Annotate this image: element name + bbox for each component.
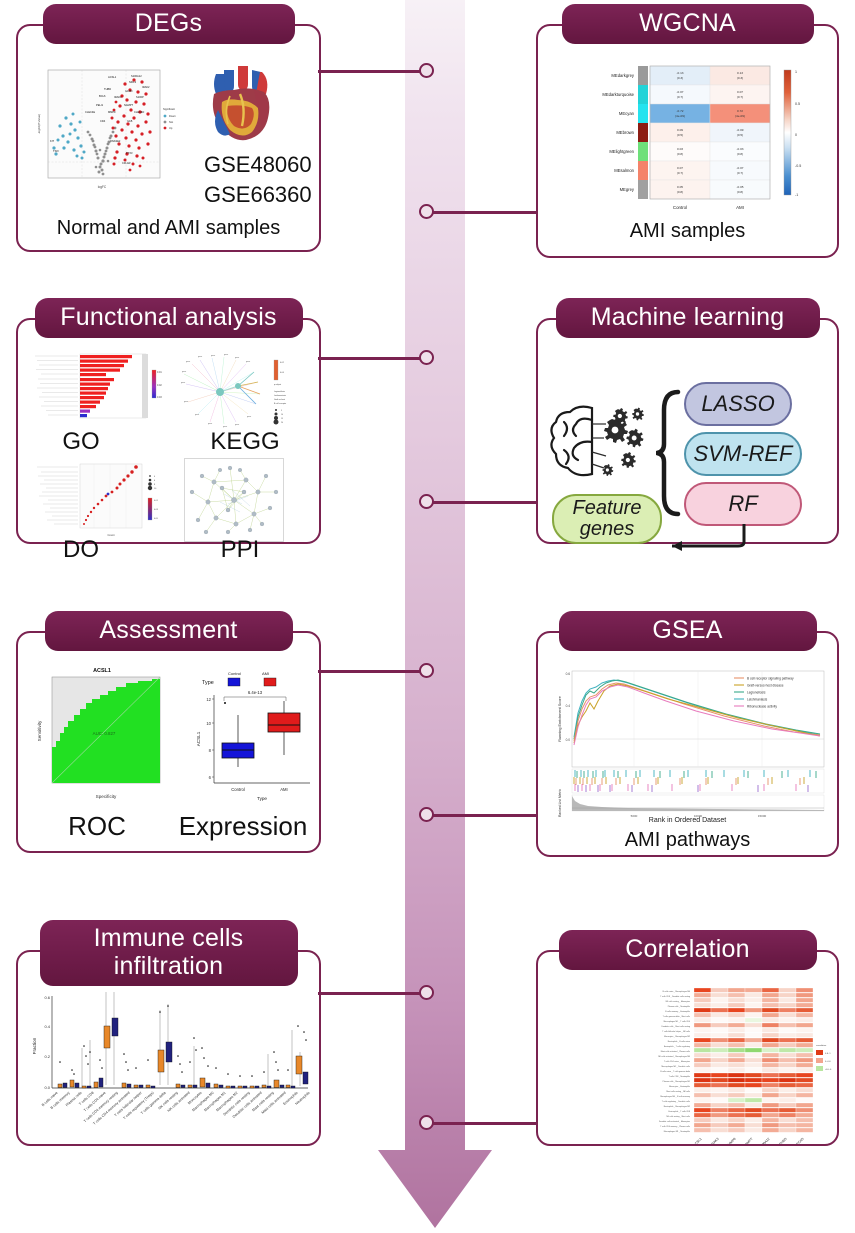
svg-text:T cells CD8 _ Neutrophils: T cells CD8 _ Neutrophils [669, 1075, 690, 1078]
svg-text:0.4: 0.4 [566, 704, 571, 708]
svg-text:Control: Control [231, 787, 245, 792]
svg-text:PELI1: PELI1 [96, 103, 104, 107]
svg-text:5: 5 [281, 410, 282, 412]
svg-text:T cells gamma delta _ Mast cel: T cells gamma delta _ Mast cells [663, 1015, 690, 1018]
svg-text:gene: gene [246, 361, 250, 363]
svg-text:0.03: 0.03 [154, 509, 159, 511]
panel-assessment[interactable]: Assessment ACSL1 AUC: 0.827 Specificity … [16, 631, 321, 853]
connector-node-functional [419, 350, 434, 365]
svg-text:(0.3): (0.3) [677, 76, 683, 80]
svg-text:Down: Down [169, 114, 176, 118]
svg-text:ACSL1: ACSL1 [196, 731, 201, 746]
svg-text:IRAK3: IRAK3 [114, 95, 122, 99]
panel-banner-degs: DEGs [43, 4, 295, 44]
svg-text:10: 10 [281, 414, 283, 416]
svg-text:Specificity: Specificity [96, 794, 117, 799]
svg-text:0.6: 0.6 [566, 672, 571, 676]
immune-infiltration-boxplot: 0.00.2 0.40.6 Fraction [22, 990, 318, 1140]
panel-caption-degs: Normal and AMI samples [18, 217, 319, 240]
panel-banner-immune: Immune cells infiltration [40, 920, 298, 986]
svg-text:(4e-09): (4e-09) [735, 114, 745, 118]
panel-banner-ml: Machine learning [556, 298, 820, 338]
svg-text:gene: gene [211, 355, 215, 357]
svg-text:gene: gene [208, 423, 212, 425]
svg-text:T cells CD4 naive _ Monocytes: T cells CD4 naive _ Monocytes [664, 1060, 690, 1063]
svg-text:(0.5): (0.5) [737, 133, 743, 137]
svg-text:NFIL3: NFIL3 [129, 80, 137, 84]
svg-text:PTX3: PTX3 [126, 151, 133, 155]
panel-wgcna[interactable]: WGCNA MEdarkgrey MEdarkturquoise MEcyan … [536, 24, 839, 258]
panel-functional-analysis[interactable]: Functional analysis [16, 318, 321, 544]
svg-text:gene: gene [181, 382, 185, 384]
kegg-cnetplot: genegenegene genegenegene genegenegene g… [178, 352, 312, 428]
svg-text:Macrophages M1 _ T cells CD4: Macrophages M1 _ T cells CD4 [664, 1020, 690, 1023]
svg-text:-0.07: -0.07 [676, 90, 683, 94]
subfigure-label-ppi: PPI [190, 536, 290, 564]
subfigure-label-roc: ROC [42, 811, 152, 842]
ppi-network [184, 458, 284, 542]
svg-text:Fraction: Fraction [32, 1037, 37, 1054]
grouping-brace [656, 388, 682, 518]
panel-degs[interactable]: DEGs [16, 24, 321, 252]
svg-text:20: 20 [281, 422, 283, 424]
subfigure-label-go: GO [36, 428, 126, 456]
method-pill-svm-ref[interactable]: SVM-REF [684, 432, 802, 476]
connector-node-ml [419, 494, 434, 509]
svg-text:MEdarkgrey: MEdarkgrey [611, 73, 634, 78]
go-barchart: 0.010.020.03 [32, 352, 162, 428]
svg-text:6: 6 [209, 775, 212, 780]
svg-text:IRAK3: IRAK3 [710, 1137, 720, 1144]
svg-text:0.05: 0.05 [677, 185, 683, 189]
svg-text:Neutrophils _ B cells naive: Neutrophils _ B cells naive [668, 1040, 690, 1043]
svg-text:MMP9: MMP9 [727, 1137, 737, 1144]
svg-text:0.02: 0.02 [280, 362, 285, 364]
feature-genes-arrow [656, 524, 752, 554]
svg-text:gene: gene [247, 416, 251, 418]
svg-text:0.13: 0.13 [737, 71, 743, 75]
svg-text:(0.8): (0.8) [677, 190, 683, 194]
svg-text:0.02: 0.02 [157, 384, 162, 387]
svg-text:0.07: 0.07 [737, 90, 743, 94]
svg-text:Sensitivity: Sensitivity [37, 720, 42, 741]
svg-text:IL1B: IL1B [127, 119, 133, 123]
connector-line-immune [318, 992, 423, 995]
svg-text:Macrophages M0 _ B cells memor: Macrophages M0 _ B cells memory [660, 1095, 690, 1098]
panel-banner-correlation: Correlation [559, 930, 817, 970]
panel-banner-assessment: Assessment [45, 611, 293, 651]
svg-text:B cell receptor: B cell receptor [274, 402, 286, 405]
svg-text:4: 4 [154, 476, 156, 478]
svg-text:1: 1 [795, 70, 797, 74]
svg-text:MEdarkturquoise: MEdarkturquoise [602, 92, 634, 97]
svg-text:Dendritic cells _ Mast cells r: Dendritic cells _ Mast cells resting [662, 1025, 690, 1028]
panel-caption-gsea: AMI pathways [538, 829, 837, 852]
svg-text:ACSL1: ACSL1 [108, 75, 117, 79]
svg-text:(0.7): (0.7) [677, 171, 683, 175]
svg-text:6: 6 [154, 480, 156, 482]
wgcna-module-trait-heatmap: MEdarkgrey MEdarkturquoise MEcyan MEbrow… [562, 62, 817, 217]
panel-correlation[interactable]: Correlation B cells naive _ Macrophages … [536, 950, 839, 1146]
svg-text:gene: gene [224, 354, 228, 356]
svg-text:B cells naive _ T cells gamma: B cells naive _ T cells gamma delta [660, 1070, 691, 1073]
svg-text:gene: gene [182, 371, 186, 373]
svg-text:(0.3): (0.3) [737, 76, 743, 80]
svg-text:NK cells resting _ Mast cells: NK cells resting _ Mast cells [666, 1115, 690, 1118]
svg-text:T cells CD4 memory _ Plasma ce: T cells CD4 memory _ Plasma cells [660, 1125, 690, 1128]
svg-text:Control: Control [228, 671, 241, 676]
svg-text:CLEC4E: CLEC4E [85, 110, 95, 114]
svg-text:NK cells resting _ Monocytes: NK cells resting _ Monocytes [666, 1000, 690, 1003]
workflow-arrow [370, 0, 500, 1233]
svg-text:ACSL1: ACSL1 [692, 1137, 703, 1144]
svg-text:Neutrophils _ Macrophages M2: Neutrophils _ Macrophages M2 [664, 1105, 690, 1108]
svg-text:Type: Type [257, 796, 267, 801]
svg-text:B cell receptor signaling path: B cell receptor signaling pathway [747, 676, 794, 680]
svg-text:10: 10 [154, 488, 157, 490]
connector-node-immune [419, 985, 434, 1000]
svg-text:-0.72: -0.72 [676, 109, 683, 113]
svg-text:Leishmaniasis: Leishmaniasis [274, 395, 286, 397]
svg-text:0.2: 0.2 [44, 1054, 50, 1059]
roc-curve-plot: ACSL1 AUC: 0.827 Specificity Sensitivity [30, 663, 166, 803]
svg-text:0.07: 0.07 [677, 166, 683, 170]
svg-text:BCL6: BCL6 [99, 94, 106, 98]
svg-text:8: 8 [209, 748, 212, 753]
gsea-enrichment-plot: B cell receptor signaling pathway Graft-… [548, 667, 832, 819]
svg-text:(0.8): (0.8) [677, 152, 683, 156]
method-pill-lasso[interactable]: LASSO [684, 382, 792, 426]
svg-text:(4e-09): (4e-09) [675, 114, 685, 118]
svg-text:Ribonuclease activity: Ribonuclease activity [747, 704, 777, 708]
panel-machine-learning[interactable]: Machine learning [536, 318, 839, 544]
panel-banner-gsea: GSEA [559, 611, 817, 651]
svg-text:ACSL1: ACSL1 [93, 668, 111, 674]
svg-text:gene: gene [186, 361, 190, 363]
svg-text:MEbrown: MEbrown [616, 130, 634, 135]
subfigure-label-kegg: KEGG [190, 428, 300, 456]
panel-banner-wgcna: WGCNA [562, 4, 814, 44]
svg-text:Significant: Significant [163, 107, 175, 111]
svg-text:-0.03: -0.03 [736, 147, 743, 151]
svg-text:THBD: THBD [104, 87, 111, 91]
svg-text:-0.09: -0.09 [736, 128, 743, 132]
svg-text:MEgrey: MEgrey [620, 187, 635, 192]
svg-text:S100P: S100P [136, 95, 144, 99]
connector-line-degs [318, 70, 423, 73]
svg-text:T cells follicular helper _ NK: T cells follicular helper _ NK cells [662, 1030, 690, 1033]
svg-text:Macrophages M1 _ Neutrophils: Macrophages M1 _ Neutrophils [664, 1130, 690, 1133]
svg-text:12: 12 [206, 697, 211, 702]
svg-text:Monocytes _ Eosinophils: Monocytes _ Eosinophils [669, 1085, 690, 1088]
svg-text:0.0: 0.0 [44, 1085, 50, 1090]
banner-line-2: infiltration [50, 952, 288, 980]
connector-node-gsea [419, 807, 434, 822]
svg-text:IRAK2: IRAK2 [142, 85, 150, 89]
svg-text:S100A12: S100A12 [131, 74, 142, 78]
svg-text:Type: Type [202, 680, 214, 686]
subfigure-label-expression: Expression [168, 811, 318, 842]
svg-text:gene: gene [195, 414, 199, 416]
svg-text:gene: gene [235, 357, 239, 359]
svg-text:0.6: 0.6 [44, 995, 50, 1000]
connector-line-functional [318, 357, 423, 360]
svg-text:Leishmaniasis: Leishmaniasis [747, 697, 768, 701]
svg-text:Control: Control [673, 205, 687, 210]
connector-line-wgcna [426, 211, 536, 214]
svg-text:NK cells activated _ Macrophag: NK cells activated _ Macrophages M0 [658, 1055, 690, 1058]
svg-text:0.04: 0.04 [280, 372, 285, 374]
svg-text:AMI: AMI [262, 671, 269, 676]
svg-text:Monocytes _ Macrophages M2: Monocytes _ Macrophages M2 [664, 1035, 690, 1038]
svg-text:AMI: AMI [736, 205, 744, 210]
connector-line-gsea [426, 814, 536, 817]
panel-banner-functional: Functional analysis [35, 298, 303, 338]
svg-text:IL1RN: IL1RN [125, 89, 132, 93]
svg-text:Legionellosis: Legionellosis [747, 690, 766, 694]
svg-text:Up: Up [169, 126, 173, 130]
svg-text:T cells CD8 _ Dendritic cells: T cells CD8 _ Dendritic cells resting [660, 995, 690, 998]
connector-node-assessment [419, 663, 434, 678]
svg-text:0.01: 0.01 [157, 371, 162, 374]
svg-text:(0.7): (0.7) [737, 95, 743, 99]
svg-text:(0.5): (0.5) [677, 133, 683, 137]
gsea-xaxis-label: Rank in Ordered Dataset [538, 817, 837, 824]
connector-node-wgcna [419, 204, 434, 219]
svg-text:0: 0 [795, 133, 797, 137]
svg-text:KIT: KIT [50, 139, 54, 143]
svg-text:B cells naive _ Macrophages M0: B cells naive _ Macrophages M0 [663, 990, 690, 993]
heart-anatomy-icon [194, 60, 286, 152]
svg-text:gene: gene [184, 401, 188, 403]
svg-text:MEcyan: MEcyan [619, 111, 635, 116]
svg-text:gene: gene [235, 424, 239, 426]
svg-text:-0.05: -0.05 [736, 185, 743, 189]
svg-text:T cells regulatory _ Dendritic: T cells regulatory _ Dendritic cells [662, 1100, 690, 1103]
svg-text:AUC: 0.827: AUC: 0.827 [93, 731, 116, 736]
svg-text:Not: Not [169, 120, 173, 124]
svg-text:-1: -1 [795, 193, 798, 197]
svg-text:0.0: 0.0 [566, 738, 571, 742]
svg-text:Mast cells activated _ Plasma: Mast cells activated _ Plasma cells [661, 1050, 690, 1053]
svg-text:Mast cells resting _ NK cells: Mast cells resting _ NK cells [666, 1090, 690, 1093]
svg-text:0.4: 0.4 [44, 1024, 50, 1029]
svg-text:10: 10 [206, 721, 211, 726]
connector-line-ml [426, 501, 536, 504]
svg-text:RNASE2: RNASE2 [110, 139, 121, 143]
svg-text:Dendritic cells activated _ Mo: Dendritic cells activated _ Monocytes [659, 1120, 690, 1123]
svg-text:logFC: logFC [98, 185, 107, 189]
connector-node-correlation [419, 1115, 434, 1130]
svg-text:Eosinophils _ T cells CD8: Eosinophils _ T cells CD8 [669, 1111, 690, 1113]
svg-text:0.03: 0.03 [157, 396, 162, 399]
panel-immune-infiltration[interactable]: Immune cells infiltration 0.00.2 0.40.6 … [16, 950, 321, 1146]
panel-caption-wgcna: AMI samples [538, 220, 837, 243]
panel-gsea[interactable]: GSEA [536, 631, 839, 857]
svg-text:Graft-vs-host: Graft-vs-host [274, 398, 285, 401]
svg-text:(0.7): (0.7) [737, 171, 743, 175]
svg-text:NAMPT: NAMPT [124, 103, 133, 107]
svg-text:Ranked List Metric: Ranked List Metric [558, 789, 562, 817]
connector-line-assessment [318, 670, 423, 673]
svg-text:MElightgreen: MElightgreen [609, 149, 634, 154]
svg-text:CLEC4D: CLEC4D [792, 1136, 805, 1144]
expression-boxplot: ControlAMI Type 68 1012 [176, 663, 316, 803]
svg-text:0.09: 0.09 [677, 128, 683, 132]
output-pill-feature-genes[interactable]: Feature genes [552, 494, 662, 544]
svg-text:THBD: THBD [778, 1136, 788, 1144]
dataset-id-2: GSE66360 [204, 182, 312, 208]
svg-text:AMI: AMI [280, 787, 287, 792]
svg-text:CD4: CD4 [100, 119, 106, 123]
volcano-plot: ACSL1S100A12 NFIL3IRAK2 THBDIL1RN BCL6IR… [30, 66, 180, 196]
connector-node-degs [419, 63, 434, 78]
svg-text:-log10(P.Value): -log10(P.Value) [37, 114, 41, 134]
svg-text:TSIX: TSIX [53, 149, 59, 153]
svg-text:p.adjust: p.adjust [274, 383, 281, 386]
brain-gears-icon [548, 398, 658, 488]
svg-text:0~0.6: 0~0.6 [825, 1061, 831, 1063]
svg-text:0.6~1: 0.6~1 [825, 1053, 831, 1055]
svg-text:0.5: 0.5 [795, 102, 800, 106]
svg-text:correlation: correlation [816, 1044, 827, 1047]
svg-text:8: 8 [154, 484, 156, 486]
svg-text:(0.8): (0.8) [737, 190, 743, 194]
svg-text:6.4e-13: 6.4e-13 [248, 690, 263, 695]
svg-text:CLEC4D: CLEC4D [134, 110, 144, 114]
svg-text:gene: gene [198, 356, 202, 358]
banner-line-1: Immune cells [50, 924, 288, 952]
svg-text:0.05: 0.05 [154, 518, 159, 520]
svg-text:CFLAR: CFLAR [122, 161, 131, 165]
method-pill-rf[interactable]: RF [684, 482, 802, 526]
svg-text:Eosinophils _ T cells regulato: Eosinophils _ T cells regulatory [664, 1045, 690, 1048]
svg-text:Plasma cells _ Neutrophils: Plasma cells _ Neutrophils [668, 1005, 690, 1008]
svg-text:-0.13: -0.13 [676, 71, 683, 75]
svg-text:-0.07: -0.07 [736, 166, 743, 170]
svg-text:Legionellosis: Legionellosis [274, 391, 285, 393]
correlation-heatmap: B cells naive _ Macrophages M0 T cells C… [544, 984, 836, 1144]
svg-text:NAMPT: NAMPT [742, 1137, 753, 1144]
svg-text:Running Enrichment Score: Running Enrichment Score [558, 696, 562, 741]
svg-text:MMP9: MMP9 [108, 110, 116, 114]
svg-text:(0.8): (0.8) [737, 152, 743, 156]
svg-text:S100A12: S100A12 [758, 1137, 771, 1144]
svg-text:Graft-versus-host disease: Graft-versus-host disease [747, 683, 784, 687]
svg-text:0.72: 0.72 [737, 109, 743, 113]
svg-text:15: 15 [281, 418, 283, 420]
svg-text:-0.5: -0.5 [795, 164, 801, 168]
svg-text:-0.6~0: -0.6~0 [825, 1069, 832, 1071]
svg-text:MEsalmon: MEsalmon [614, 168, 634, 173]
dataset-id-1: GSE48060 [204, 152, 312, 178]
svg-text:B cells memory _ Eosinophils: B cells memory _ Eosinophils [665, 1010, 690, 1013]
do-dotplot: 46 810 0.010.03 0.05 Count [32, 462, 162, 540]
svg-text:(0.7): (0.7) [677, 95, 683, 99]
svg-text:0.03: 0.03 [677, 147, 683, 151]
subfigure-label-do: DO [36, 536, 126, 564]
svg-text:Plasma cells _ Macrophages M1: Plasma cells _ Macrophages M1 [663, 1080, 690, 1083]
connector-line-correlation [426, 1122, 536, 1125]
svg-text:0.01: 0.01 [154, 500, 159, 502]
svg-text:Macrophages M2 _ Dendritic cel: Macrophages M2 _ Dendritic cells [662, 1065, 691, 1068]
